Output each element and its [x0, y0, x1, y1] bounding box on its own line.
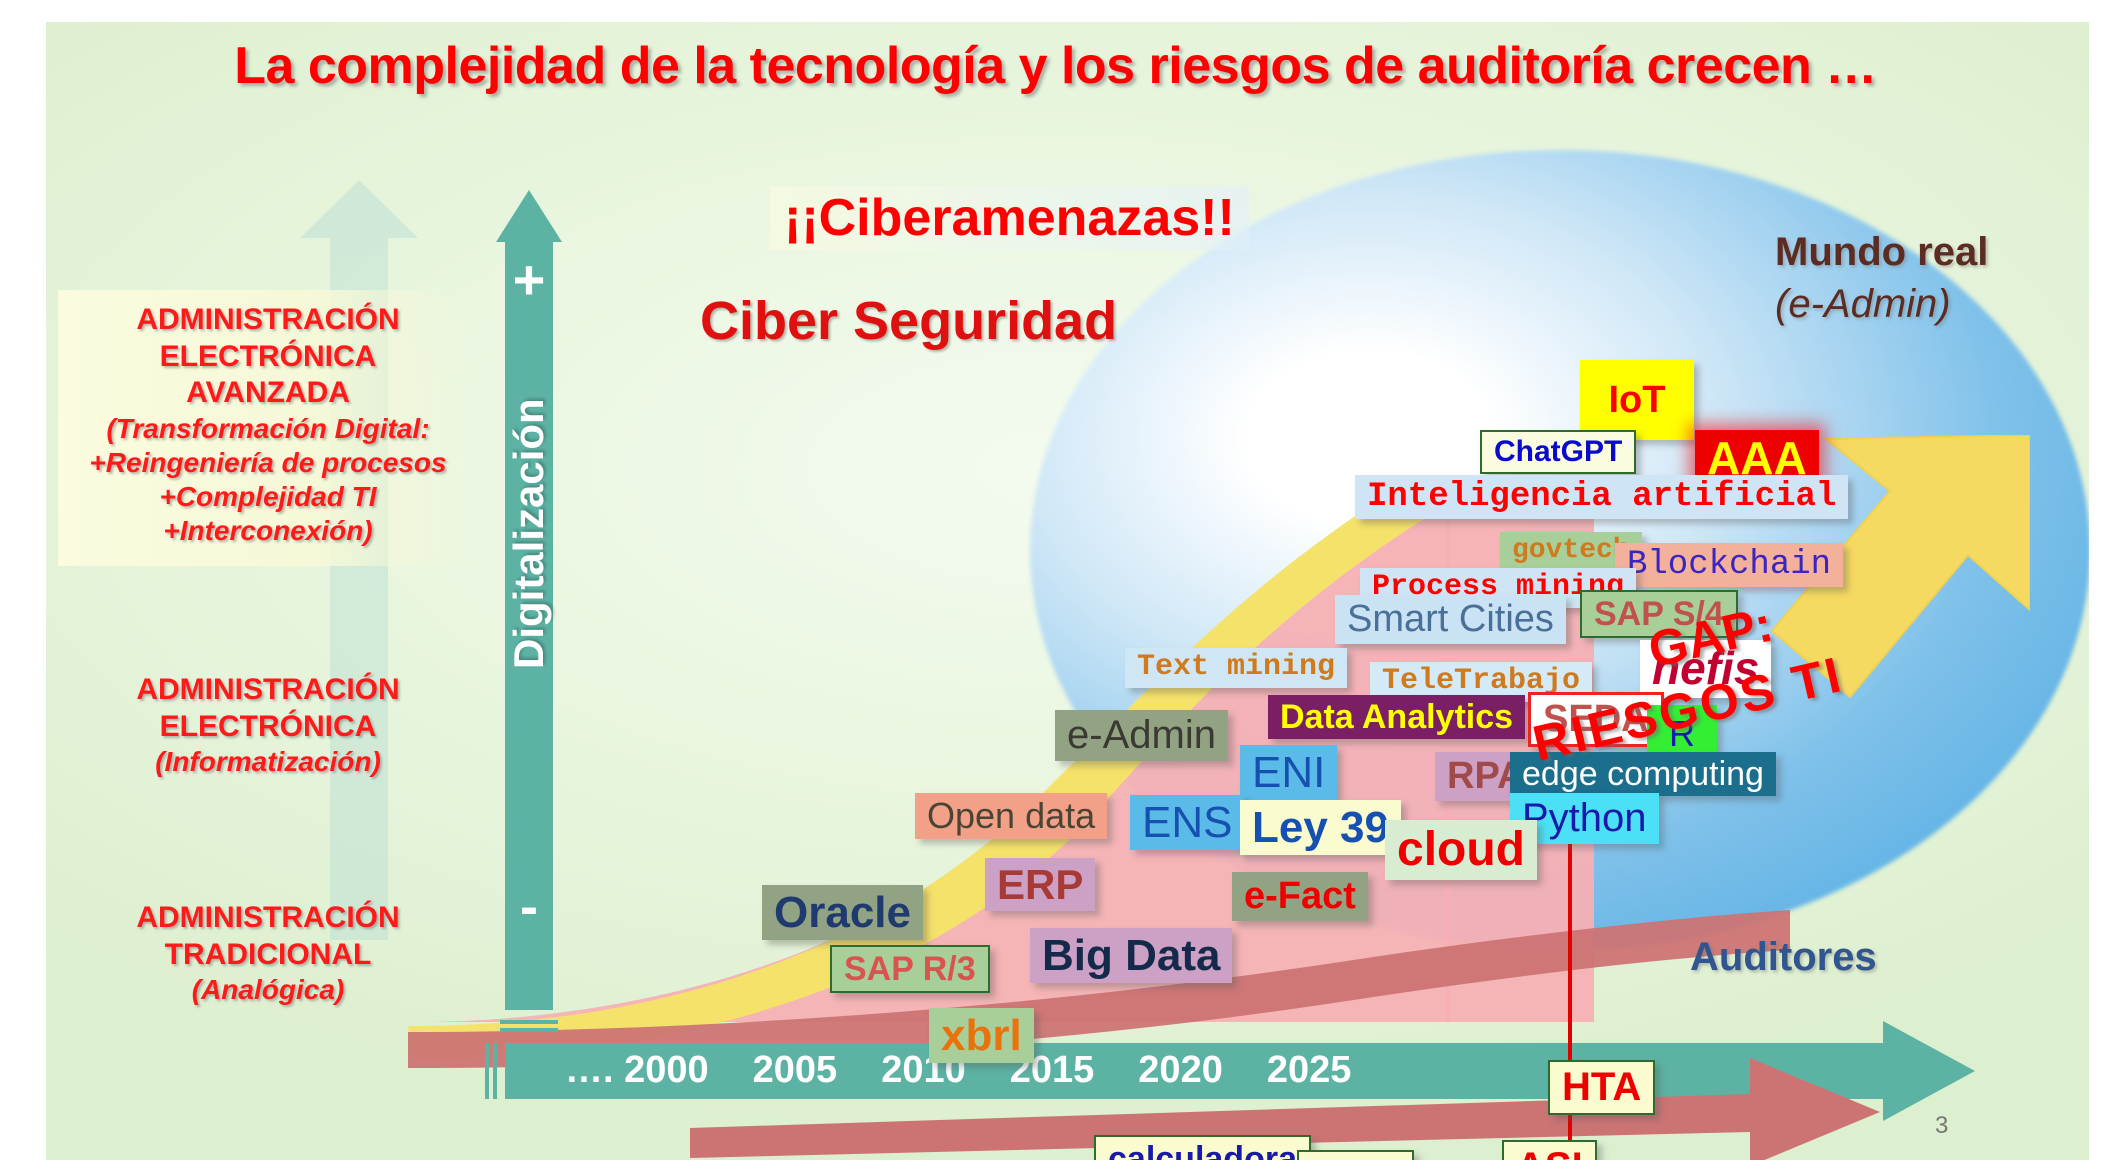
sidebar-traditional-heading: ADMINISTRACIÓNTRADICIONAL [58, 900, 478, 973]
tag-eni: ENI [1240, 745, 1337, 800]
axis-plus-label: + [496, 252, 562, 308]
callout-ciber-seguridad: Ciber Seguridad [700, 290, 1117, 352]
tag-chatgpt: ChatGPT [1480, 430, 1636, 474]
page-number: 3 [1935, 1112, 1948, 1140]
text-line: (Analógica) [58, 973, 478, 1007]
sidebar-traditional-subtext: (Analógica) [58, 973, 478, 1007]
text-line: ELECTRÓNICA [58, 709, 478, 746]
page-title: La complejidad de la tecnología y los ri… [0, 36, 2111, 96]
tag-sap-r3: SAP R/3 [830, 945, 990, 993]
slide-root: La complejidad de la tecnología y los ri… [0, 0, 2111, 1170]
axis-minus-label: - [496, 880, 562, 934]
axis-base-tick-2 [500, 1028, 558, 1032]
axis-base-tick [500, 1020, 558, 1024]
tag-cloud: cloud [1385, 820, 1537, 880]
sidebar-block-traditional: ADMINISTRACIÓNTRADICIONAL (Analógica) [58, 900, 478, 1007]
tag-blockchain: Blockchain [1615, 543, 1843, 587]
slide-margin-right [2089, 0, 2111, 1170]
timeline-year-0: …. 2000 [565, 1049, 709, 1092]
text-line: (Transformación Digital: [58, 412, 478, 446]
tag-e-admin: e-Admin [1055, 710, 1228, 761]
callout-mundo-real: Mundo real [1775, 230, 1988, 275]
sidebar-block-electronic: ADMINISTRACIÓNELECTRÓNICA (Informatizaci… [58, 672, 478, 779]
text-line: TRADICIONAL [58, 937, 478, 974]
tag-open-data: Open data [915, 793, 1107, 839]
text-line: +Complejidad TI [58, 480, 478, 514]
tag-hta: HTA [1548, 1060, 1655, 1115]
tag-inteligencia-artificial: Inteligencia artificial [1355, 475, 1848, 519]
sidebar-electronic-heading: ADMINISTRACIÓNELECTRÓNICA [58, 672, 478, 745]
text-line: +Interconexión) [58, 514, 478, 548]
text-line: ADMINISTRACIÓN [58, 900, 478, 937]
slide-margin-left [0, 0, 46, 1170]
axis-vertical-label: Digitalización [505, 419, 553, 669]
timeline-arrow-head-icon [1883, 1021, 1975, 1121]
text-line: ELECTRÓNICA [58, 339, 478, 376]
callout-ciberamenazas: ¡¡Ciberamenazas!! [770, 186, 1249, 250]
tag-text-mining: Text mining [1125, 648, 1347, 688]
tag-erp: ERP [985, 858, 1095, 911]
text-line: (Informatización) [58, 745, 478, 779]
tag-ens: ENS [1130, 795, 1244, 850]
tag-data-analytics: Data Analytics [1268, 695, 1525, 739]
text-line: ADMINISTRACIÓN [58, 672, 478, 709]
tag-ley39: Ley 39 [1240, 800, 1401, 855]
timeline-cap-2 [485, 1043, 489, 1099]
sidebar-block-advanced: ADMINISTRACIÓNELECTRÓNICAAVANZADA (Trans… [58, 290, 478, 566]
callout-mundo-real-sub: (e-Admin) [1775, 282, 1951, 327]
sidebar-advanced-subtext: (Transformación Digital:+Reingeniería de… [58, 412, 478, 549]
axis-vertical-digitalizacion: + Digitalización - [496, 190, 562, 1010]
tag-e-fact: e-Fact [1232, 872, 1368, 921]
text-line: ADMINISTRACIÓN [58, 302, 478, 339]
sidebar-advanced-heading: ADMINISTRACIÓNELECTRÓNICAAVANZADA [58, 302, 478, 412]
tag-smart-cities: Smart Cities [1335, 595, 1566, 644]
tag-iot: IoT [1580, 360, 1694, 440]
tag-xbrl: xbrl [929, 1008, 1034, 1063]
tag-big-data: Big Data [1030, 928, 1232, 983]
sidebar-electronic-subtext: (Informatización) [58, 745, 478, 779]
axis-arrow-head-icon [496, 190, 562, 242]
text-line: AVANZADA [58, 375, 478, 412]
callout-auditores: Auditores [1690, 935, 1877, 980]
text-line: +Reingeniería de procesos [58, 446, 478, 480]
slide-margin-bottom [0, 1160, 2111, 1170]
timeline-cap-1 [493, 1043, 497, 1099]
tag-oracle: Oracle [762, 885, 923, 940]
